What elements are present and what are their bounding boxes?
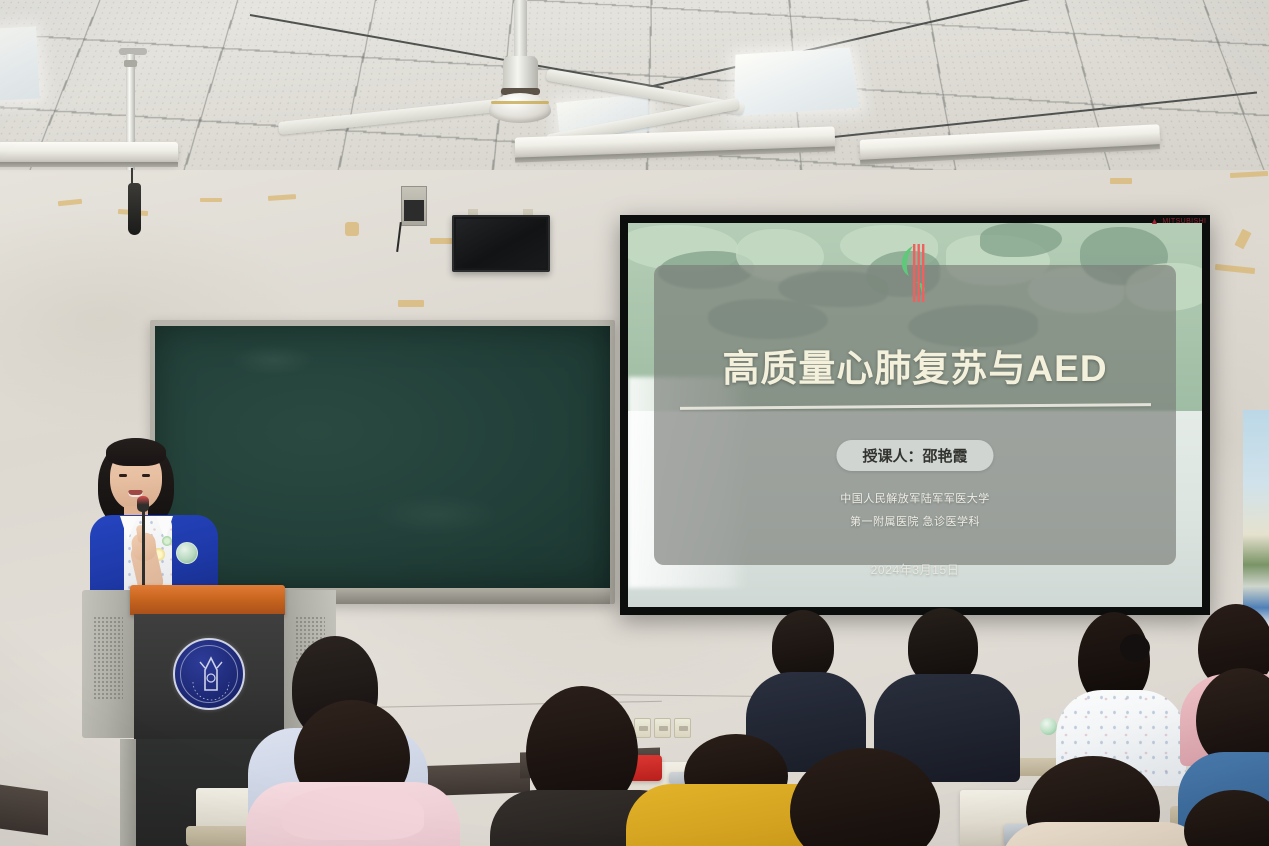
audience-woman-floral-blouse: [1058, 612, 1178, 772]
wall-tape-6: [398, 300, 424, 307]
projection-screen-frame: 高质量心肺复苏与AED 授课人：邵艳霞 中国人民解放军陆军军医大学 第一附属医院…: [620, 215, 1210, 615]
ceiling-light-panel-center: [734, 47, 860, 116]
projector-brand-label: ▲ MITSUBISHI: [1150, 216, 1206, 226]
wall-power-outlet-3[interactable]: [674, 718, 691, 738]
wall-tape-3: [200, 198, 222, 202]
audience-man-suit-left-rear: [752, 610, 862, 760]
audience-person-far-bottom-right: [1180, 790, 1269, 846]
fan-gold-trim: [491, 101, 549, 104]
audience-woman-pink-hoodie: [258, 700, 448, 846]
podium-left-leg: [120, 739, 136, 846]
hair: [1184, 790, 1269, 846]
slide-presenter-pill: 授课人：邵艳霞: [836, 440, 993, 471]
hoodie-hood: [282, 786, 424, 840]
podium-speaker-grill-left: [93, 616, 123, 700]
monitor-screen: [456, 219, 546, 268]
slide-title: 高质量心肺复苏与AED: [628, 338, 1202, 392]
electrical-box-panel: [404, 200, 424, 221]
chair-logo-icon-1: [1040, 718, 1057, 735]
fluorescent-fixture-left: [0, 142, 178, 164]
slide-logo-icon: [889, 242, 941, 304]
blackboard: [155, 326, 610, 588]
wall-poster-fragment: [1243, 410, 1269, 625]
emblem-glyph: [175, 640, 247, 712]
southwest-university-emblem-icon: [173, 638, 245, 710]
hair: [790, 748, 940, 846]
audience-man-suit-center-rear: [880, 608, 1010, 768]
fixture-edge-left: [0, 162, 178, 167]
fan-rod: [514, 0, 527, 62]
pole-joint: [124, 60, 137, 67]
slide-affiliation-line1: 中国人民解放军陆军军医大学: [628, 490, 1202, 506]
fan-hub-light: [489, 93, 551, 123]
fan-motor: [503, 56, 538, 90]
podium-left-speaker-panel: [82, 590, 134, 738]
blackboard-chalk-dust: [155, 326, 610, 588]
slide-date: 2024年3月15日: [628, 561, 1202, 578]
wall-mounted-monitor: [452, 215, 550, 272]
speaker-eye-left: [119, 474, 127, 477]
speaker: [90, 430, 220, 600]
ceiling-light-panel-left: [0, 26, 40, 101]
audience-woman-long-hair-front: [760, 758, 970, 846]
projection-screen: 高质量心肺复苏与AED 授课人：邵艳霞 中国人民解放军陆军军医大学 第一附属医院…: [628, 223, 1202, 607]
speaker-hair-fringe: [106, 438, 166, 466]
speaker-badge-icon: [176, 542, 198, 564]
hair-bun: [1120, 634, 1150, 662]
projector-brand-text: MITSUBISHI: [1162, 218, 1206, 225]
camo-shape-8: [980, 223, 1062, 257]
outlet-slot-3: [679, 726, 688, 731]
wall-tape-12: [1110, 178, 1132, 184]
speaker-eye-right: [142, 474, 150, 477]
audience-woman-beige-front-right: [1010, 770, 1200, 846]
hanging-microphone: [128, 183, 141, 235]
speaker-microphone: [137, 496, 149, 512]
podium-wooden-top: [130, 585, 285, 615]
shoulders: [1000, 822, 1210, 846]
slide-affiliation-line2: 第一附属医院 急诊医学科: [628, 513, 1202, 529]
wall-tape-5: [345, 222, 359, 236]
lecture-hall-photo: 高质量心肺复苏与AED 授课人：邵艳霞 中国人民解放军陆军军医大学 第一附属医院…: [0, 0, 1269, 846]
speaker-corsage-leaf: [162, 536, 172, 546]
mitsubishi-logo-icon: ▲: [1150, 216, 1159, 226]
